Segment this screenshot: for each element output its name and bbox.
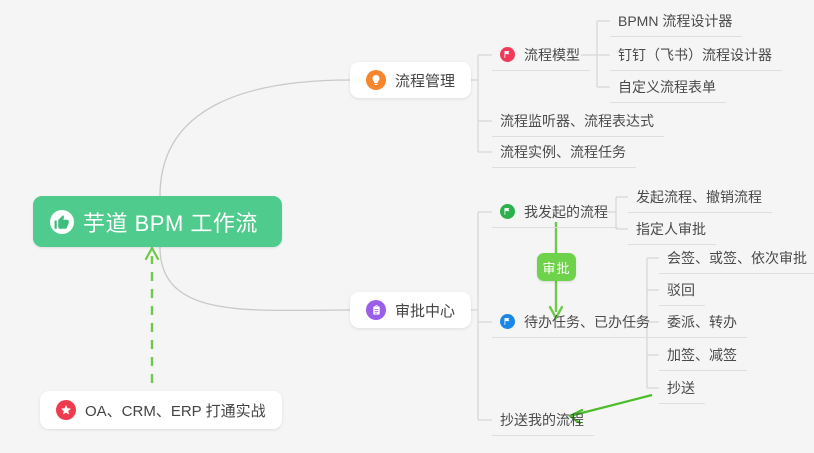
flag-icon — [500, 204, 515, 219]
node-delegate-transfer[interactable]: 委派、转办 — [659, 306, 747, 338]
node-label: 我发起的流程 — [524, 202, 608, 222]
star-icon — [56, 400, 76, 420]
node-label: 钉钉（飞书）流程设计器 — [618, 45, 772, 65]
approve-badge-label: 审批 — [542, 258, 570, 277]
node-label: OA、CRM、ERP 打通实战 — [85, 400, 266, 421]
node-copy-to[interactable]: 抄送 — [659, 372, 705, 404]
node-process-listener-expression[interactable]: 流程监听器、流程表达式 — [492, 105, 664, 137]
link-root-to-approval-center — [160, 247, 350, 310]
node-copied-to-me-process[interactable]: 抄送我的流程 — [492, 404, 594, 436]
node-label: 驳回 — [667, 280, 695, 300]
root-node[interactable]: 芋道 BPM 工作流 — [33, 196, 282, 247]
node-label: 抄送 — [667, 378, 695, 398]
node-label: 流程模型 — [524, 45, 580, 65]
node-bpmn-designer[interactable]: BPMN 流程设计器 — [610, 5, 742, 37]
branch-label: 流程管理 — [395, 70, 455, 91]
node-reject[interactable]: 驳回 — [659, 274, 705, 306]
branch-label: 审批中心 — [395, 300, 455, 321]
node-label: 加签、减签 — [667, 345, 737, 365]
link-root-to-process-mgmt — [160, 80, 350, 196]
node-my-initiated-process[interactable]: 我发起的流程 — [492, 196, 618, 228]
node-todo-done-tasks[interactable]: 待办任务、已办任务 — [492, 306, 660, 338]
node-label: 流程实例、流程任务 — [500, 142, 626, 162]
node-label: 委派、转办 — [667, 312, 737, 332]
flag-icon — [500, 47, 515, 62]
thumbs-up-icon — [50, 210, 74, 234]
lightbulb-icon — [366, 70, 386, 90]
node-label: 待办任务、已办任务 — [524, 312, 650, 332]
mindmap-canvas: 芋道 BPM 工作流 流程管理 流程模型 BPMN 流程设计器 钉钉（飞书）流程… — [0, 0, 814, 453]
node-label: BPMN 流程设计器 — [618, 11, 732, 31]
node-label: 会签、或签、依次审批 — [667, 248, 807, 268]
node-label: 指定人审批 — [636, 219, 706, 239]
node-dingtalk-feishu-designer[interactable]: 钉钉（飞书）流程设计器 — [610, 39, 782, 71]
root-node-label: 芋道 BPM 工作流 — [83, 206, 258, 238]
node-custom-process-form[interactable]: 自定义流程表单 — [610, 71, 726, 103]
node-oa-crm-erp-integration[interactable]: OA、CRM、ERP 打通实战 — [40, 391, 282, 429]
node-start-cancel-process[interactable]: 发起流程、撤销流程 — [628, 181, 772, 213]
clipboard-icon — [366, 300, 386, 320]
node-label: 抄送我的流程 — [500, 410, 584, 430]
branch-approval-center[interactable]: 审批中心 — [350, 292, 471, 328]
branch-process-management[interactable]: 流程管理 — [350, 62, 471, 98]
flag-icon — [500, 314, 515, 329]
approve-badge: 审批 — [537, 253, 576, 281]
arrow-bottom-to-root — [146, 248, 158, 383]
node-label: 发起流程、撤销流程 — [636, 187, 762, 207]
node-label: 自定义流程表单 — [618, 77, 716, 97]
node-countersign-approve[interactable]: 会签、或签、依次审批 — [659, 242, 814, 274]
node-add-remove-sign[interactable]: 加签、减签 — [659, 339, 747, 371]
node-assigned-approver[interactable]: 指定人审批 — [628, 213, 716, 245]
node-process-model[interactable]: 流程模型 — [492, 39, 590, 71]
node-process-instance-task[interactable]: 流程实例、流程任务 — [492, 136, 636, 168]
node-label: 流程监听器、流程表达式 — [500, 111, 654, 131]
